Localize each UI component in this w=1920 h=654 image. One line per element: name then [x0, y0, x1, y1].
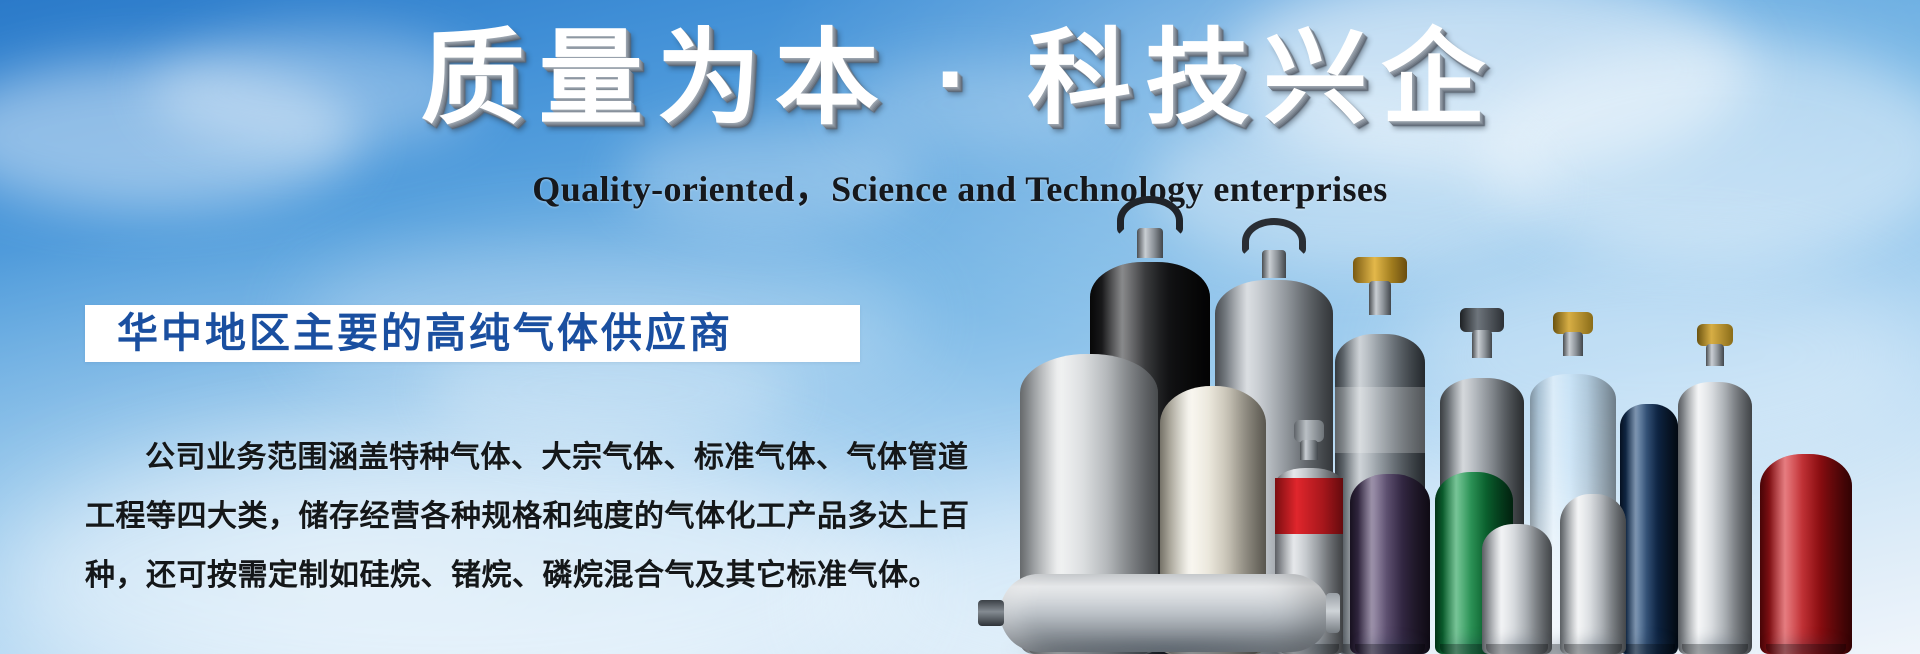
lying-cylinder-end: [1326, 593, 1340, 633]
cylinder-body: [1760, 454, 1852, 654]
cylinder-neck: [1262, 250, 1286, 278]
cylinder-valve-cap: [1353, 257, 1407, 283]
cylinder-neck: [1472, 330, 1492, 358]
promotional-banner: 质量为本 · 科技兴企 Quality-oriented，Science and…: [0, 0, 1920, 654]
cylinder-valve-cap: [1294, 420, 1324, 442]
cylinder-valve-cap: [1553, 312, 1593, 334]
cylinder-shadow: [1560, 634, 1626, 654]
cylinder-neck: [1563, 332, 1583, 356]
cylinder-shadow: [1678, 634, 1752, 654]
gas-cylinder-group: [1130, 180, 1920, 654]
cylinder-shadow: [1760, 634, 1852, 654]
aluminium-cylinder: [1678, 364, 1752, 654]
description-line-1: 公司业务范围涵盖特种气体、大宗气体、标准气体、气体管道: [85, 428, 875, 487]
description-line-2: 工程等四大类，储存经营各种规格和纯度的气体化工产品多达上百: [85, 487, 875, 546]
cylinder-body: [1560, 494, 1626, 654]
lying-cylinder-valve: [978, 600, 1004, 626]
dark-blue-cylinder: [1620, 404, 1678, 654]
cylinder-neck: [1706, 344, 1724, 366]
cylinder-shadow: [1350, 634, 1430, 654]
cylinder-label-band: [1275, 478, 1343, 534]
cylinder-label-band: [1335, 387, 1425, 453]
silver-small-cylinder: [1560, 494, 1626, 654]
red-cylinder: [1760, 454, 1852, 654]
highlight-box-text: 华中地区主要的高纯气体供应商: [85, 313, 733, 354]
cylinder-neck: [1137, 228, 1163, 258]
cylinder-shadow: [1482, 634, 1552, 654]
banner-headline: 质量为本 · 科技兴企: [0, 20, 1920, 140]
highlight-box: 华中地区主要的高纯气体供应商: [85, 305, 860, 362]
cylinder-body: [1350, 474, 1430, 654]
cylinder-body: [1620, 404, 1678, 654]
banner-description: 公司业务范围涵盖特种气体、大宗气体、标准气体、气体管道 工程等四大类，储存经营各…: [85, 428, 875, 605]
cylinder-body: [1678, 382, 1752, 654]
cylinder-neck: [1300, 440, 1318, 460]
cylinder-valve-cap: [1460, 308, 1504, 332]
lying-cylinder: [1000, 574, 1330, 652]
cylinder-shadow: [1000, 636, 1330, 654]
cylinder-neck: [1369, 281, 1391, 315]
silver-medium-cylinder: [1482, 524, 1552, 654]
description-line-3: 种，还可按需定制如硅烷、锗烷、磷烷混合气及其它标准气体。: [85, 546, 875, 605]
purple-cylinder: [1350, 474, 1430, 654]
cylinder-shadow: [1620, 634, 1678, 654]
cylinder-valve-cap: [1697, 324, 1733, 346]
